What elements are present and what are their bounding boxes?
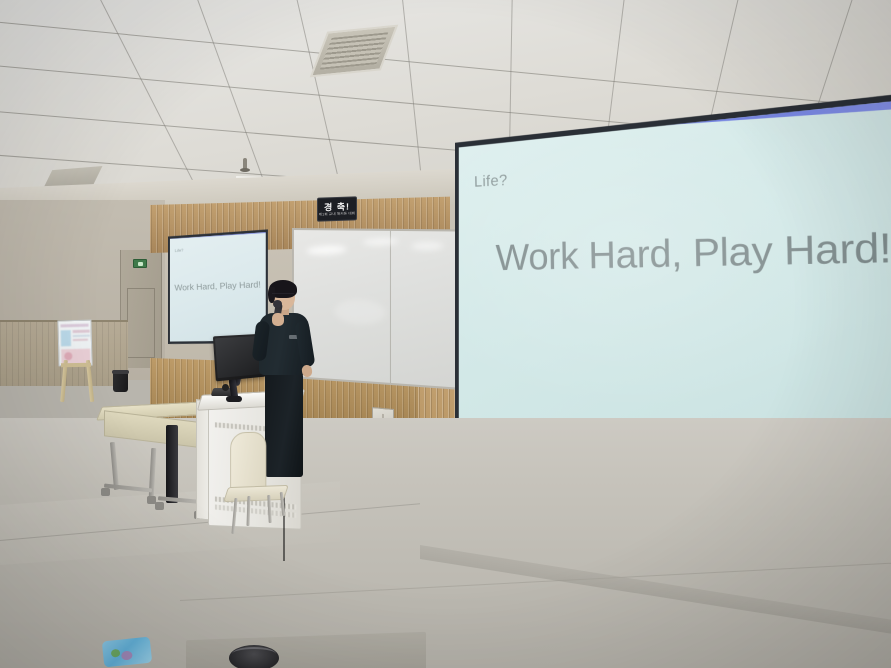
wall-banner-sign: 경 축! 제1회 교내 해커톤 대회 xyxy=(317,196,357,221)
presenter-legs xyxy=(265,371,303,477)
slide-title-text: Work Hard, Play Hard! xyxy=(495,224,891,280)
presenter-hand-holding-mic xyxy=(272,313,284,326)
whiteboard xyxy=(292,228,467,390)
ceiling-air-vent xyxy=(310,25,399,78)
dark-round-object xyxy=(229,645,279,668)
lecture-hall-photo: 경 축! 제1회 교내 해커톤 대회 Life? Work Hard, Play… xyxy=(0,0,891,668)
secondary-slide-kicker: Life? xyxy=(175,248,184,254)
main-screen-surface: Life? Work Hard, Play Hard! Page 50 xyxy=(459,94,891,452)
waste-bin xyxy=(113,372,128,392)
presenter-right-hand xyxy=(301,364,313,377)
exit-sign-icon xyxy=(133,259,147,268)
blue-plastic-bag xyxy=(102,637,152,668)
glasses-icon xyxy=(272,293,294,297)
secondary-slide-title: Work Hard, Play Hard! xyxy=(174,279,261,293)
table-caster xyxy=(101,488,110,496)
easel-tray xyxy=(61,363,91,368)
secondary-screen-surface: Life? Work Hard, Play Hard! xyxy=(170,232,266,345)
table-caster xyxy=(155,502,164,510)
slide-kicker-text: Life? xyxy=(474,172,508,191)
microphone-head-icon xyxy=(273,300,282,308)
folding-table-column xyxy=(166,425,178,503)
sprinkler-head xyxy=(243,158,247,170)
monitor-arm-base xyxy=(226,396,242,402)
main-projection-screen: Life? Work Hard, Play Hard! Page 50 xyxy=(455,89,891,457)
secondary-projection-screen: Life? Work Hard, Play Hard! xyxy=(168,229,268,346)
lectern-knob[interactable] xyxy=(222,384,229,391)
wall-sign-line2: 제1회 교내 해커톤 대회 xyxy=(319,211,355,217)
